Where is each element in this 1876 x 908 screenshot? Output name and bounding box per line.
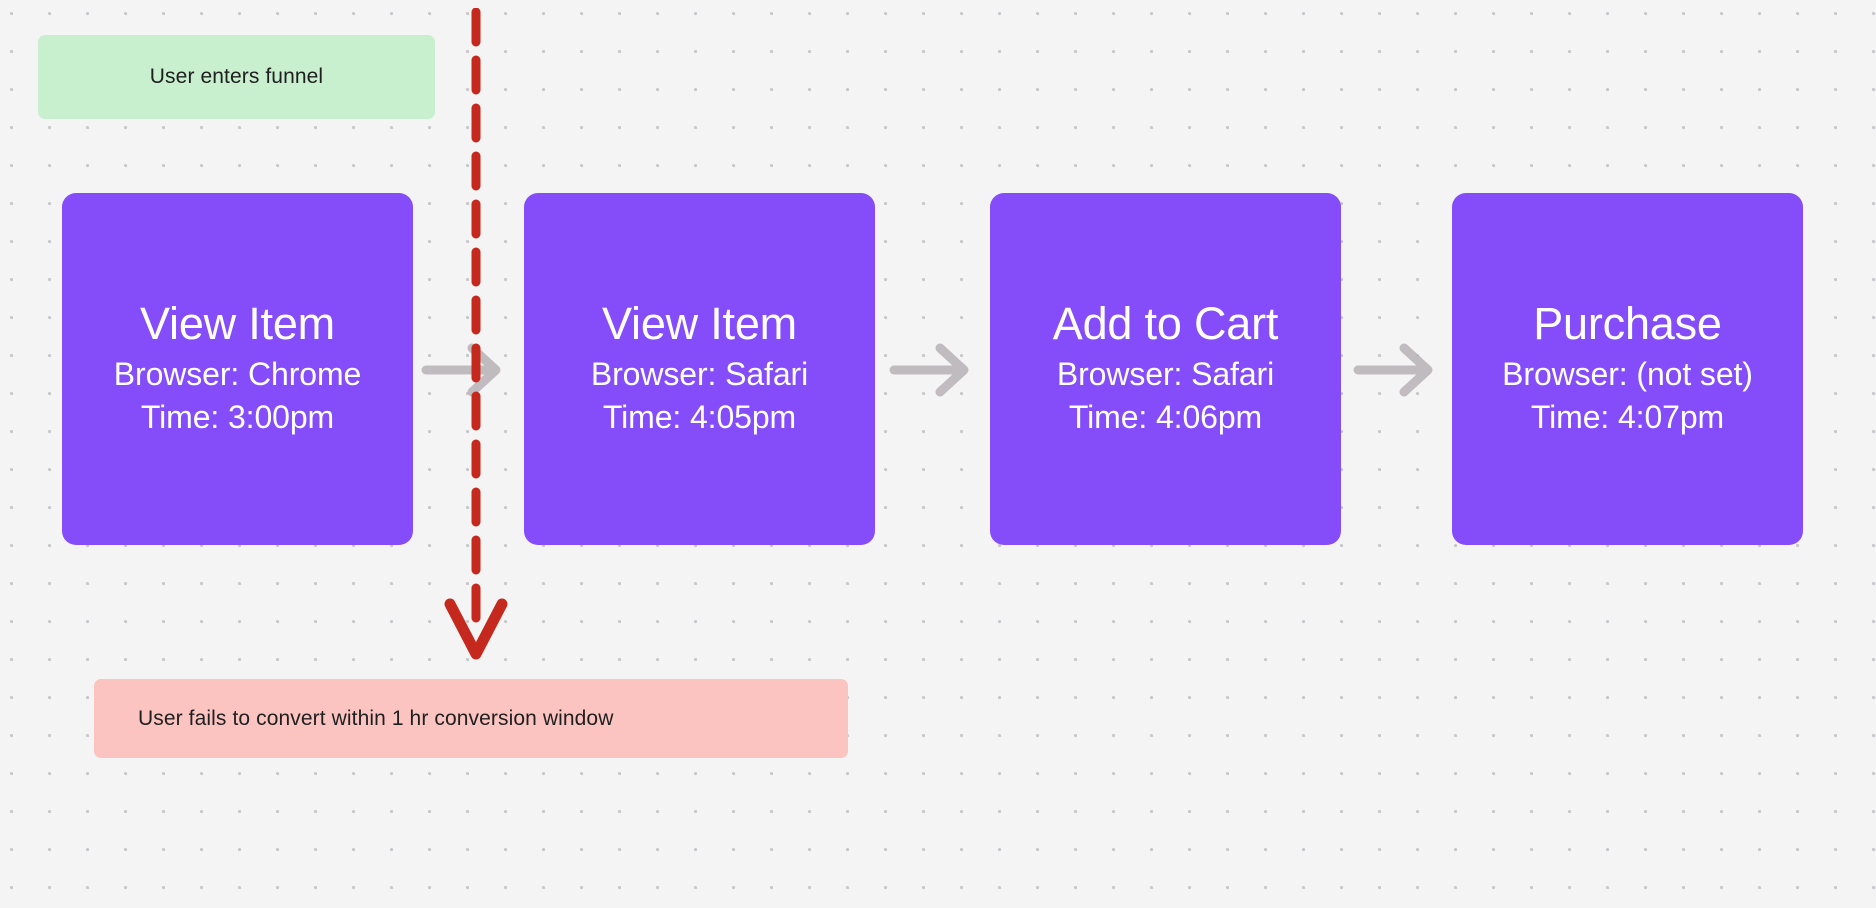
event-card-browser: Browser: (not set) — [1502, 353, 1753, 395]
event-card-purchase[interactable]: Purchase Browser: (not set) Time: 4:07pm — [1452, 193, 1803, 545]
event-card-title: Add to Cart — [1053, 300, 1278, 347]
event-card-browser: Browser: Safari — [1057, 353, 1274, 395]
event-card-view-item-chrome[interactable]: View Item Browser: Chrome Time: 3:00pm — [62, 193, 413, 545]
event-card-time: Time: 4:06pm — [1069, 396, 1262, 438]
event-card-title: View Item — [602, 300, 797, 347]
note-fail-label: User fails to convert within 1 hr conver… — [138, 706, 613, 731]
event-card-title: Purchase — [1533, 300, 1722, 347]
event-card-view-item-safari[interactable]: View Item Browser: Safari Time: 4:05pm — [524, 193, 875, 545]
diagram-canvas: User enters funnel View Item Browser: Ch… — [0, 0, 1876, 908]
arrow-right-icon — [1352, 340, 1444, 400]
event-card-browser: Browser: Safari — [591, 353, 808, 395]
event-card-add-to-cart[interactable]: Add to Cart Browser: Safari Time: 4:06pm — [990, 193, 1341, 545]
event-card-title: View Item — [140, 300, 335, 347]
event-card-time: Time: 4:05pm — [603, 396, 796, 438]
note-user-fails-to-convert: User fails to convert within 1 hr conver… — [94, 679, 848, 758]
event-card-time: Time: 4:07pm — [1531, 396, 1724, 438]
arrow-right-icon — [888, 340, 980, 400]
dashed-dropoff-arrow-icon — [406, 8, 546, 678]
note-user-enters-funnel: User enters funnel — [38, 35, 435, 119]
event-card-browser: Browser: Chrome — [114, 353, 361, 395]
event-card-time: Time: 3:00pm — [141, 396, 334, 438]
note-enter-label: User enters funnel — [150, 64, 323, 89]
